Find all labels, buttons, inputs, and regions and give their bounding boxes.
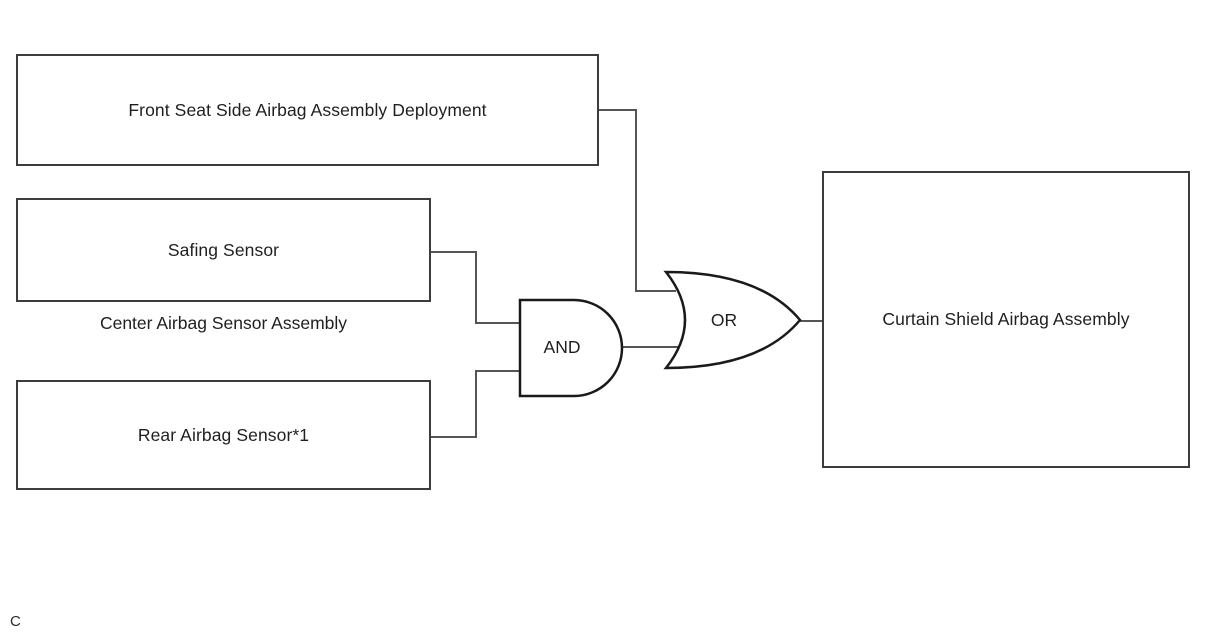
wire-safing-sensor-to-and (431, 252, 520, 323)
box-safing-sensor[interactable]: Safing Sensor (16, 198, 431, 302)
caption-label-center-airbag-sensor-assembly: Center Airbag Sensor Assembly (100, 313, 347, 333)
box-rear-airbag-sensor[interactable]: Rear Airbag Sensor*1 (16, 380, 431, 490)
box-label-curtain-shield-airbag: Curtain Shield Airbag Assembly (882, 309, 1129, 330)
wire-rear-sensor-to-and (431, 371, 520, 437)
box-label-safing-sensor: Safing Sensor (168, 240, 279, 261)
figure-letter-text: C (10, 613, 21, 630)
box-label-front-seat-side-airbag: Front Seat Side Airbag Assembly Deployme… (128, 100, 486, 121)
figure-letter: C (10, 613, 21, 630)
box-curtain-shield-airbag[interactable]: Curtain Shield Airbag Assembly (822, 171, 1190, 468)
caption-center-airbag-sensor-assembly: Center Airbag Sensor Assembly (16, 313, 431, 334)
and-gate-shape (520, 300, 622, 396)
box-front-seat-side-airbag[interactable]: Front Seat Side Airbag Assembly Deployme… (16, 54, 599, 166)
or-gate-shape (666, 272, 800, 368)
wire-front-seat-to-or (599, 110, 676, 291)
logic-diagram-canvas: Front Seat Side Airbag Assembly Deployme… (0, 0, 1206, 642)
box-label-rear-airbag-sensor: Rear Airbag Sensor*1 (138, 425, 309, 446)
